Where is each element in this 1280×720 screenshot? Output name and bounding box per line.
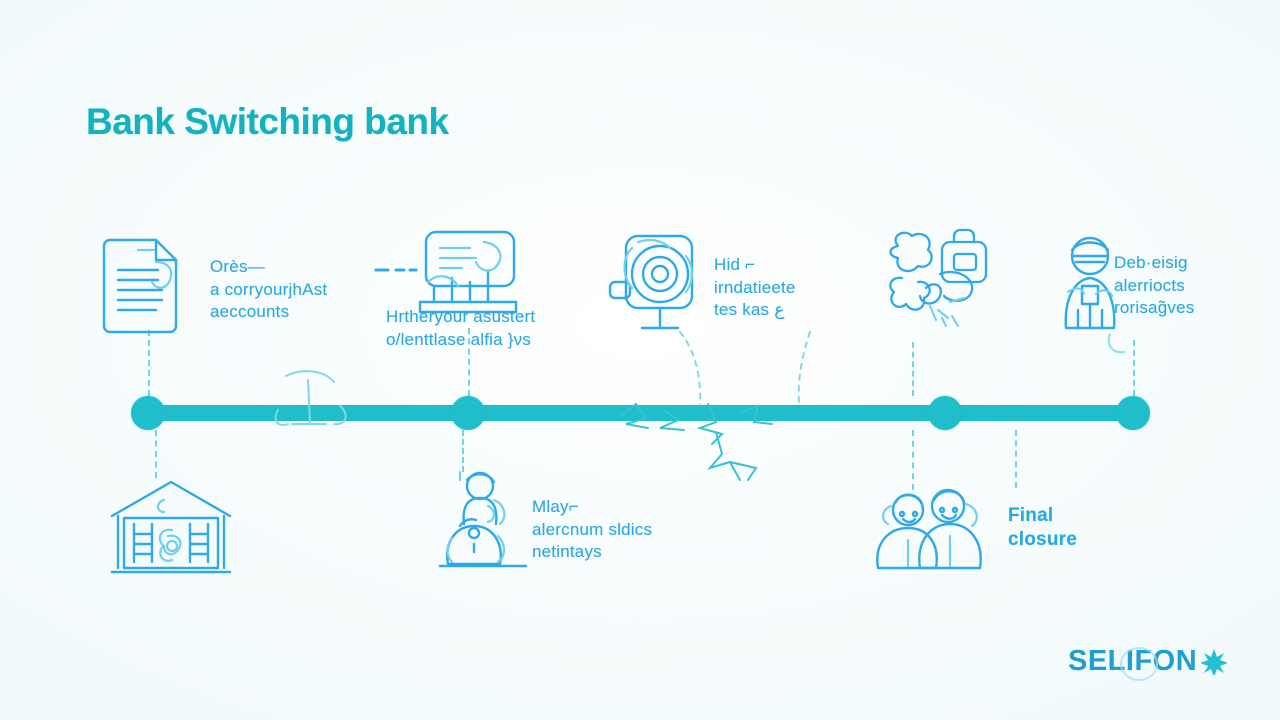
timeline-node-4[interactable]: [1116, 396, 1150, 430]
connector-node3-down: [912, 430, 914, 490]
money-bag-person-icon: [430, 466, 536, 578]
timeline-bar: [148, 405, 1134, 421]
connector-node4-down: [1015, 430, 1017, 488]
two-people-icon: [866, 486, 996, 578]
connector-node3-up: [912, 342, 914, 396]
milestone-above-3-caption: Hid ⌐ irndatieete tes kas ع: [714, 254, 884, 322]
brand-logo[interactable]: SELIFON: [1068, 645, 1227, 678]
milestone-below-2-caption: Mlay⌐ alercnum sldics netintays: [532, 496, 732, 564]
document-lines-icon: [100, 232, 186, 336]
connector-node5-up: [1133, 340, 1135, 396]
timeline-node-2[interactable]: [451, 396, 485, 430]
milestone-above-1-caption: Orès— a corryourjhAst aeccounts: [210, 256, 375, 324]
bank-building-icon: [106, 478, 236, 582]
bar-scribble-artifact: [612, 370, 862, 500]
people-luggage-icon: [878, 228, 998, 332]
page-title: Bank Switching bank: [86, 101, 449, 143]
infographic-canvas: Bank Switching bank: [0, 0, 1280, 720]
timeline-node-3[interactable]: [928, 396, 962, 430]
milestone-below-3-caption: Final closure: [1008, 504, 1158, 552]
starburst-icon: [1201, 649, 1227, 675]
connector-node1-down: [155, 430, 157, 478]
timeline-node-1[interactable]: [131, 396, 165, 430]
connector-node1-up: [148, 330, 150, 396]
logo-text: SELIFON: [1068, 645, 1197, 678]
milestone-above-2-caption: Hrtheryour asustert o/lenttlase alfia }ν…: [386, 306, 586, 351]
dash-stub-icon: [374, 264, 418, 276]
milestone-above-5-caption: Deb·eisig alerriocts rorisag̃ves: [1114, 252, 1280, 320]
camera-gear-icon: [608, 232, 708, 340]
